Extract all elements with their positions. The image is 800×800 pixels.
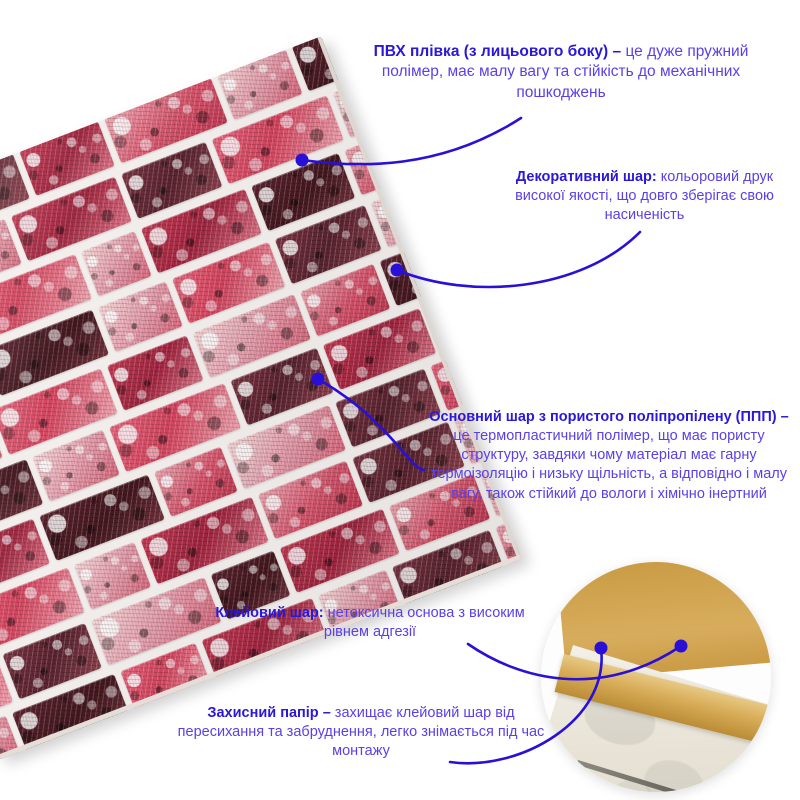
callout-decorative-layer-heading: Декоративний шар: (516, 169, 657, 185)
callout-protective-paper-heading: Захисний папір – (207, 705, 330, 721)
callout-adhesive-layer-body: нетоксична основа з високим рівнем адгез… (324, 605, 525, 640)
brick-panel-image (0, 36, 522, 759)
brick-rows (0, 36, 522, 759)
leader-line-decorative (397, 232, 640, 287)
callout-core-layer: Основний шар з пористого поліпропілену (… (420, 408, 798, 504)
callout-core-layer-body: це термопластичний полімер, що має порис… (431, 428, 787, 501)
callout-adhesive-layer-heading: Клейовий шар: (215, 605, 323, 621)
adhesive-corner-closeup (541, 562, 771, 792)
brick-panel-surface (0, 36, 522, 759)
callout-core-layer-heading: Основний шар з пористого поліпропілену (… (429, 409, 788, 425)
callout-pvc-film: ПВХ плівка (з лицьового боку) – це дуже … (370, 42, 752, 103)
callout-protective-paper: Захисний папір – захищає клейовий шар ві… (168, 704, 554, 761)
callout-pvc-film-heading: ПВХ плівка (з лицьового боку) – (374, 43, 622, 60)
callout-adhesive-layer: Клейовий шар: нетоксична основа з високи… (192, 604, 548, 642)
closeup-photo (541, 562, 771, 792)
infographic-canvas: ПВХ плівка (з лицьового боку) – це дуже … (0, 0, 800, 800)
callout-decorative-layer: Декоративний шар: кольоровий друк високо… (497, 168, 792, 225)
